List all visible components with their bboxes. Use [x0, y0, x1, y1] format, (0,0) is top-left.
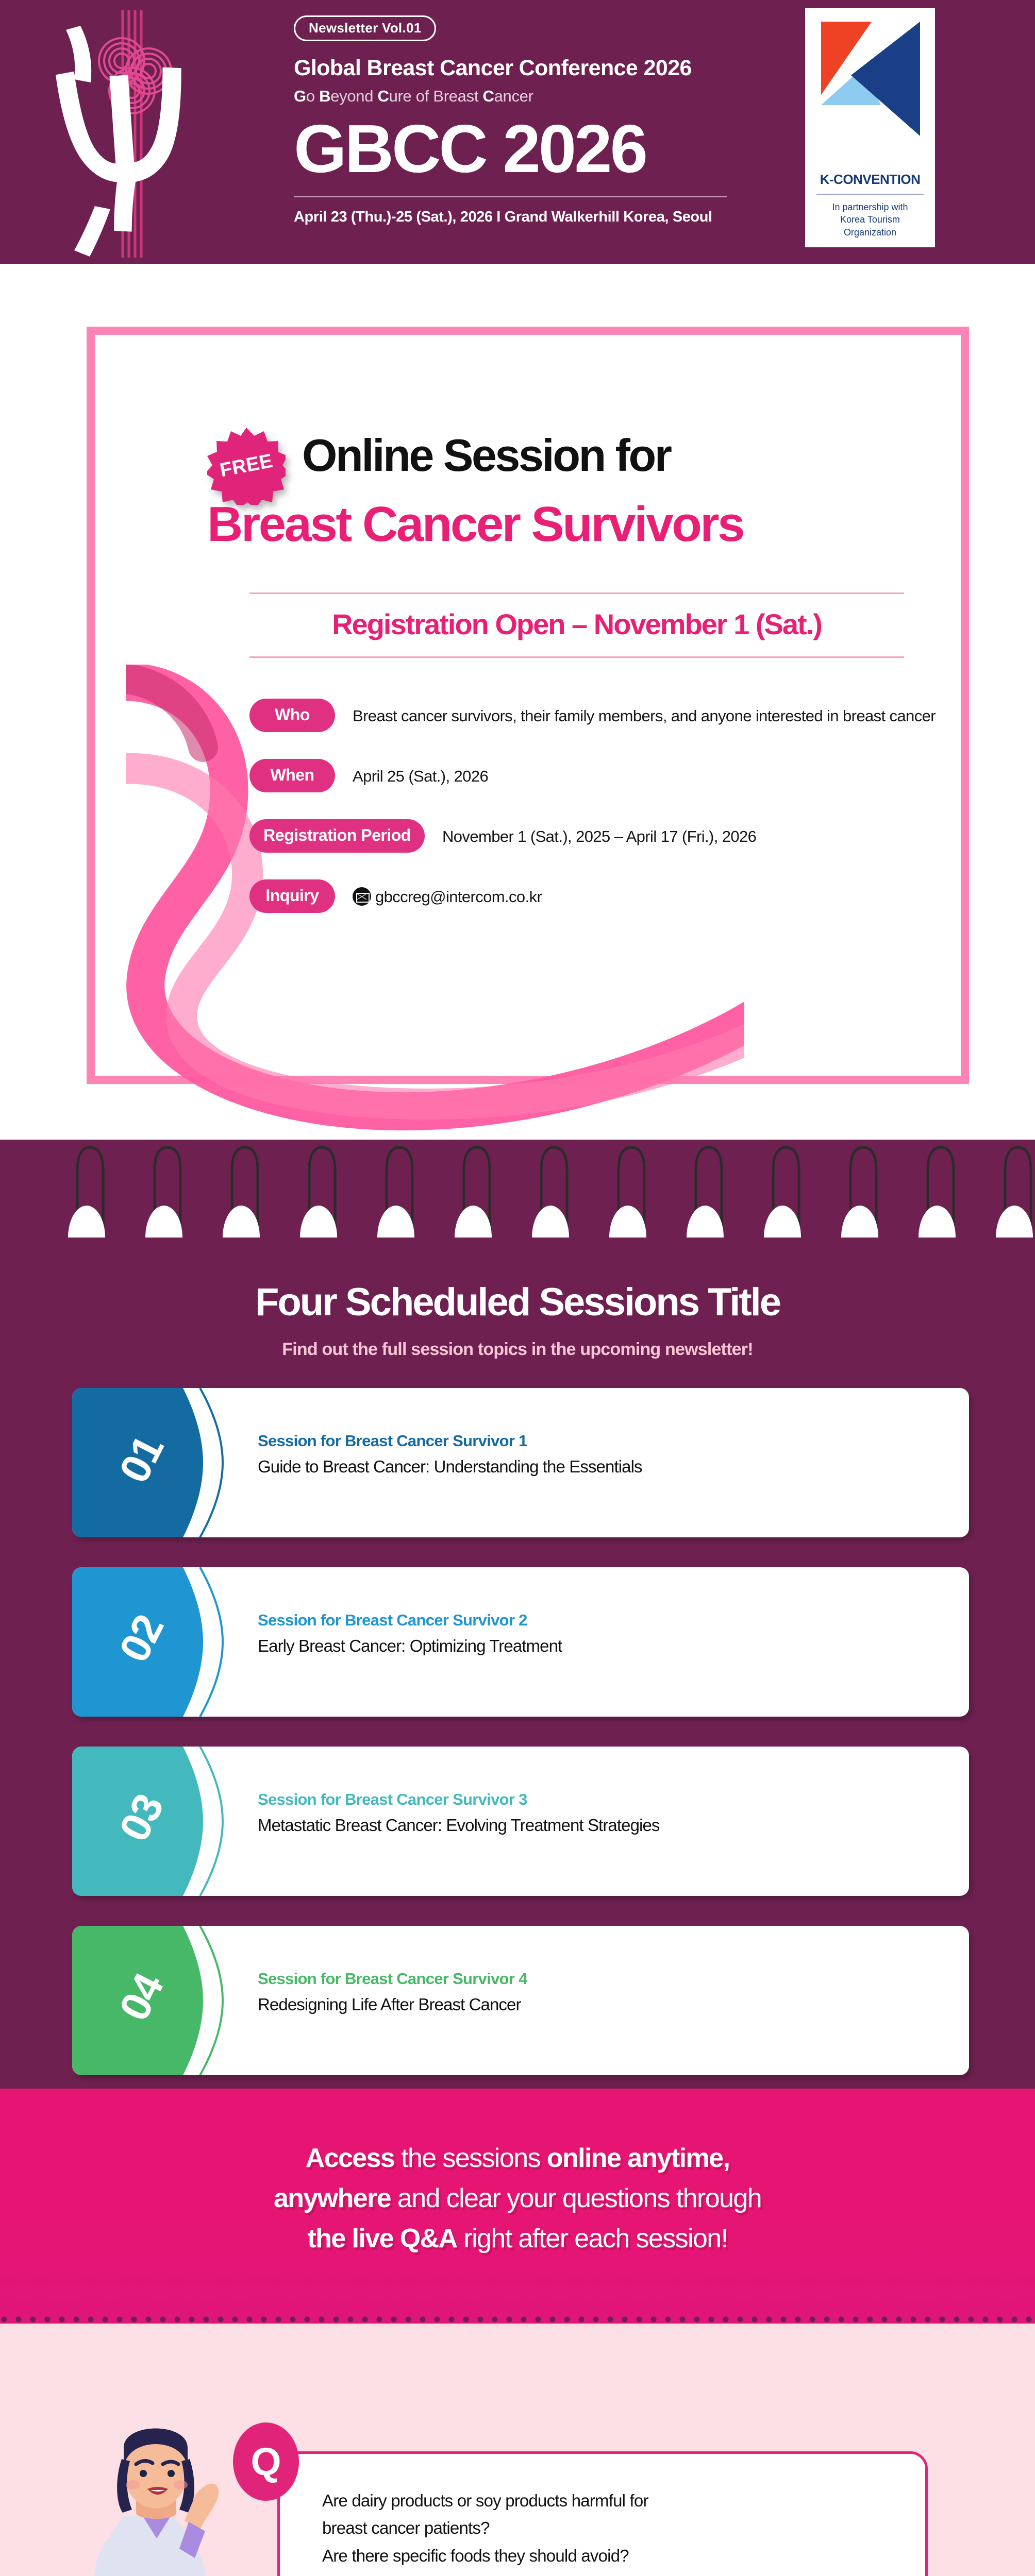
k-convention-name: K-CONVENTION: [813, 172, 927, 188]
dotted-divider: [0, 2315, 1035, 2324]
question-line-3: Are there specific foods they should avo…: [322, 2542, 925, 2569]
access-plain-3: right after each session!: [457, 2224, 728, 2253]
session-eyebrow: Session for Breast Cancer Survivor 2: [258, 1611, 948, 1630]
info-label-inquiry: Inquiry: [249, 879, 335, 913]
sessions-section: Four Scheduled Sessions Title Find out t…: [0, 1140, 1035, 2089]
info-value-registration-period: November 1 (Sat.), 2025 – April 17 (Fri.…: [425, 819, 997, 849]
k-convention-sub-line2: Korea Tourism Organization: [813, 213, 927, 239]
session-card[interactable]: 04 Session for Breast Cancer Survivor 4 …: [72, 1926, 969, 2075]
question-mark-badge: Q: [233, 2422, 299, 2501]
k-convention-logo-box: K-CONVENTION In partnership with Korea T…: [805, 8, 935, 247]
access-bold-3: anywhere: [274, 2183, 391, 2213]
header-text-block: Newsletter Vol.01 Global Breast Cancer C…: [294, 15, 758, 226]
question-mark-label: Q: [251, 2439, 281, 2484]
session-eyebrow: Session for Breast Cancer Survivor 4: [258, 1969, 948, 1988]
conference-date-venue: April 23 (Thu.)-25 (Sat.), 2026 I Grand …: [294, 209, 758, 226]
woman-avatar: [78, 2403, 233, 2576]
conference-slogan: Go Beyond Cure of Breast Cancer: [294, 87, 758, 106]
mail-icon: [353, 887, 371, 906]
qa-section: Q Are dairy products or soy products har…: [0, 2324, 1035, 2576]
info-value-who: Breast cancer survivors, their family me…: [335, 699, 997, 728]
session-card[interactable]: 01 Session for Breast Cancer Survivor 1 …: [72, 1388, 969, 1537]
access-plain-2: and clear your questions through: [391, 2183, 761, 2213]
conference-acronym: GBCC 2026: [294, 115, 758, 183]
access-bold-4: the live Q&A: [308, 2224, 457, 2253]
question-line-2: breast cancer patients?: [322, 2514, 925, 2541]
header-divider: [294, 196, 727, 197]
info-value-inquiry-wrap: gbccreg@intercom.co.kr: [335, 879, 997, 909]
info-row-registration-period: Registration Period November 1 (Sat.), 2…: [249, 819, 997, 853]
page-header: Newsletter Vol.01 Global Breast Cancer C…: [0, 0, 1035, 264]
promo-frame: FREE Online Session for Breast Cancer Su…: [87, 327, 969, 1084]
access-bold-2: online anytime,: [547, 2143, 730, 2173]
info-row-who: Who Breast cancer survivors, their famil…: [249, 699, 997, 732]
session-card-list: 01 Session for Breast Cancer Survivor 1 …: [72, 1388, 969, 2075]
session-topic: Early Breast Cancer: Optimizing Treatmen…: [258, 1636, 948, 1656]
spiral-binding: [0, 1140, 1035, 1238]
promo-title-line2: Breast Cancer Survivors: [207, 500, 743, 549]
session-eyebrow: Session for Breast Cancer Survivor 1: [258, 1431, 948, 1450]
session-card-body: Session for Breast Cancer Survivor 4 Red…: [258, 1969, 948, 2015]
session-eyebrow: Session for Breast Cancer Survivor 3: [258, 1790, 948, 1809]
registration-open-text: Registration Open – November 1 (Sat.): [332, 608, 822, 640]
info-label-registration-period: Registration Period: [249, 819, 425, 853]
info-row-when: When April 25 (Sat.), 2026: [249, 759, 997, 792]
access-banner-text: Access the sessions online anytime, anyw…: [0, 2138, 1035, 2259]
session-card[interactable]: 02 Session for Breast Cancer Survivor 2 …: [72, 1567, 969, 1717]
info-row-inquiry: Inquiry gbccreg@intercom.co.kr: [249, 879, 997, 913]
question-bubble-text: Are dairy products or soy products harmf…: [280, 2454, 925, 2569]
k-convention-k-icon: [814, 18, 926, 167]
info-value-inquiry[interactable]: gbccreg@intercom.co.kr: [375, 888, 542, 906]
session-topic: Redesigning Life After Breast Cancer: [258, 1994, 948, 2015]
sessions-title: Four Scheduled Sessions Title: [0, 1280, 1035, 1325]
question-bubble: Are dairy products or soy products harmf…: [277, 2451, 928, 2576]
session-card-body: Session for Breast Cancer Survivor 2 Ear…: [258, 1611, 948, 1656]
info-value-when: April 25 (Sat.), 2026: [335, 759, 997, 788]
question-line-1: Are dairy products or soy products harmf…: [322, 2487, 925, 2514]
promo-title-line1: Online Session for: [302, 433, 670, 478]
session-topic: Guide to Breast Cancer: Understanding th…: [258, 1456, 948, 1477]
access-banner-section: Access the sessions online anytime, anyw…: [0, 2089, 1035, 2324]
access-bold-1: Access: [306, 2143, 395, 2173]
k-convention-divider: [816, 194, 924, 195]
promo-info-list: Who Breast cancer survivors, their famil…: [249, 699, 997, 913]
registration-open-banner: Registration Open – November 1 (Sat.): [249, 592, 904, 658]
access-plain-1: the sessions: [394, 2143, 547, 2173]
sessions-subtitle: Find out the full session topics in the …: [0, 1340, 1035, 1360]
session-card[interactable]: 03 Session for Breast Cancer Survivor 3 …: [72, 1747, 969, 1896]
conference-name: Global Breast Cancer Conference 2026: [294, 56, 758, 81]
session-card-body: Session for Breast Cancer Survivor 1 Gui…: [258, 1431, 948, 1477]
info-label-who: Who: [249, 699, 335, 732]
newsletter-volume-badge: Newsletter Vol.01: [294, 15, 436, 41]
session-card-body: Session for Breast Cancer Survivor 3 Met…: [258, 1790, 948, 1836]
k-convention-sub-line1: In partnership with: [813, 201, 927, 213]
free-badge-label: FREE: [201, 420, 292, 512]
session-topic: Metastatic Breast Cancer: Evolving Treat…: [258, 1815, 948, 1836]
gbcc-logo-mark: [31, 10, 258, 258]
info-label-when: When: [249, 759, 335, 792]
promo-section: FREE Online Session for Breast Cancer Su…: [0, 264, 1035, 1140]
free-badge: FREE: [207, 427, 286, 505]
